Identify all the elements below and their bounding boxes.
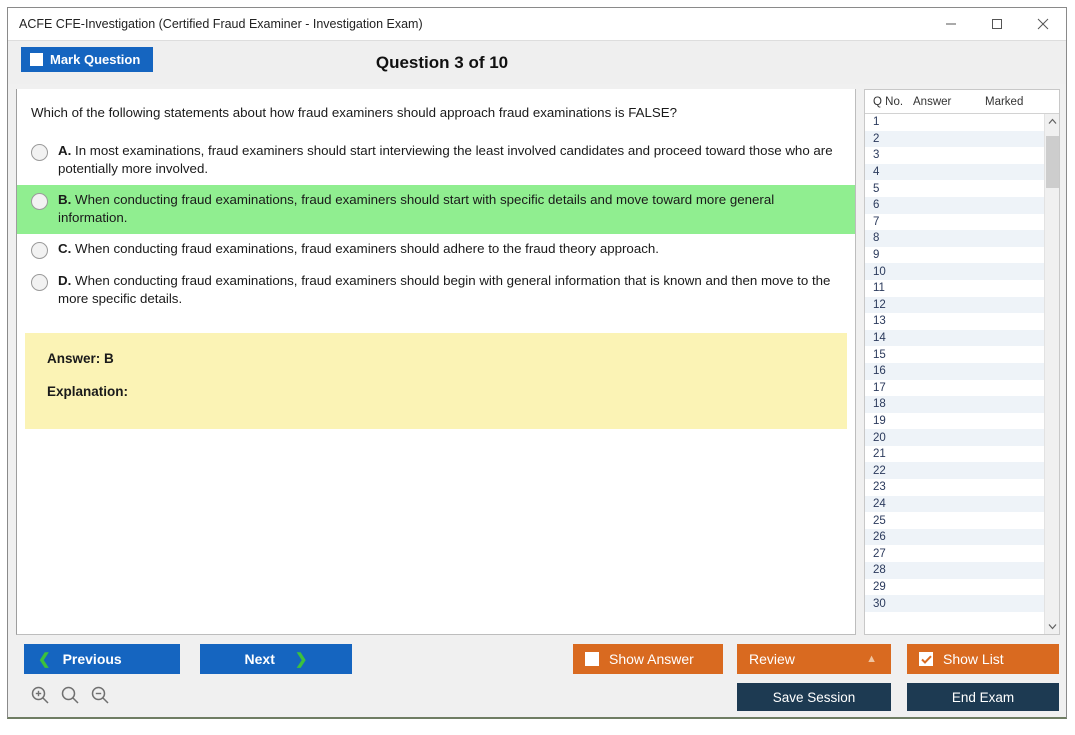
- question-list-row[interactable]: 11: [865, 280, 1044, 297]
- question-list-row[interactable]: 21: [865, 446, 1044, 463]
- question-row-number: 25: [865, 515, 913, 527]
- question-row-number: 7: [865, 216, 913, 228]
- question-row-number: 5: [865, 183, 913, 195]
- radio-icon-c[interactable]: [31, 242, 48, 259]
- question-row-number: 6: [865, 199, 913, 211]
- question-list-pane: Q No. Answer Marked 12345678910111213141…: [864, 89, 1060, 635]
- question-row-number: 8: [865, 232, 913, 244]
- show-answer-label: Show Answer: [609, 651, 694, 667]
- question-list-row[interactable]: 3: [865, 147, 1044, 164]
- question-list-row[interactable]: 26: [865, 529, 1044, 546]
- minimize-icon[interactable]: [928, 8, 974, 40]
- option-d[interactable]: D. When conducting fraud examinations, f…: [17, 266, 855, 315]
- question-list-row[interactable]: 1: [865, 114, 1044, 131]
- footer-toolbar: ❮ Previous Next ❯ Show Answer Review ▲: [8, 641, 1066, 719]
- option-b-text: B. When conducting fraud examinations, f…: [58, 191, 841, 227]
- exam-header: Mark Question Question 3 of 10: [8, 41, 1066, 84]
- question-list-row[interactable]: 16: [865, 363, 1044, 380]
- question-list-row[interactable]: 14: [865, 330, 1044, 347]
- radio-icon-b[interactable]: [31, 193, 48, 210]
- option-d-body: When conducting fraud examinations, frau…: [58, 273, 830, 306]
- question-row-number: 1: [865, 116, 913, 128]
- question-list-row[interactable]: 23: [865, 479, 1044, 496]
- question-row-number: 13: [865, 315, 913, 327]
- question-row-number: 3: [865, 149, 913, 161]
- option-d-text: D. When conducting fraud examinations, f…: [58, 272, 841, 308]
- next-button[interactable]: Next ❯: [200, 644, 352, 674]
- zoom-controls: [30, 685, 110, 710]
- option-a-text: A. In most examinations, fraud examiners…: [58, 142, 841, 178]
- question-row-number: 11: [865, 282, 913, 294]
- option-b[interactable]: B. When conducting fraud examinations, f…: [17, 185, 855, 234]
- mark-question-checkbox-icon[interactable]: [30, 53, 43, 66]
- chevron-right-icon: ❯: [295, 652, 308, 667]
- question-list-row[interactable]: 2: [865, 131, 1044, 148]
- option-c[interactable]: C. When conducting fraud examinations, f…: [17, 234, 855, 266]
- save-session-button[interactable]: Save Session: [737, 683, 891, 711]
- option-a[interactable]: A. In most examinations, fraud examiners…: [17, 136, 855, 185]
- question-list-row[interactable]: 19: [865, 413, 1044, 430]
- window-titlebar: ACFE CFE-Investigation (Certified Fraud …: [8, 8, 1066, 41]
- question-list-row[interactable]: 22: [865, 462, 1044, 479]
- question-list-row[interactable]: 18: [865, 396, 1044, 413]
- question-row-number: 14: [865, 332, 913, 344]
- question-list-row[interactable]: 7: [865, 214, 1044, 231]
- question-list-row[interactable]: 6: [865, 197, 1044, 214]
- show-list-button[interactable]: Show List: [907, 644, 1059, 674]
- answer-panel: Answer: B Explanation:: [25, 333, 847, 429]
- question-list-row[interactable]: 9: [865, 247, 1044, 264]
- question-row-number: 12: [865, 299, 913, 311]
- save-session-label: Save Session: [773, 690, 856, 705]
- exam-body: Which of the following statements about …: [8, 84, 1066, 717]
- question-list-scrollbar[interactable]: [1044, 114, 1059, 634]
- scroll-up-icon[interactable]: [1045, 114, 1059, 129]
- question-list-row[interactable]: 24: [865, 496, 1044, 513]
- option-b-letter: B.: [58, 192, 71, 207]
- question-list-row[interactable]: 28: [865, 562, 1044, 579]
- question-row-number: 30: [865, 598, 913, 610]
- scrollbar-thumb[interactable]: [1046, 136, 1059, 188]
- question-list-row[interactable]: 10: [865, 263, 1044, 280]
- review-dropdown[interactable]: Review ▲: [737, 644, 891, 674]
- question-list-row[interactable]: 13: [865, 313, 1044, 330]
- end-exam-button[interactable]: End Exam: [907, 683, 1059, 711]
- show-answer-button[interactable]: Show Answer: [573, 644, 723, 674]
- show-answer-checkbox-icon[interactable]: [585, 652, 599, 666]
- question-row-number: 21: [865, 448, 913, 460]
- mark-question-button[interactable]: Mark Question: [21, 47, 153, 72]
- previous-button-label: Previous: [63, 651, 122, 667]
- scroll-down-icon[interactable]: [1045, 619, 1059, 634]
- window-title: ACFE CFE-Investigation (Certified Fraud …: [8, 17, 928, 31]
- option-c-text: C. When conducting fraud examinations, f…: [58, 240, 659, 258]
- explanation-label: Explanation:: [47, 384, 825, 399]
- question-list-row[interactable]: 27: [865, 545, 1044, 562]
- question-row-number: 23: [865, 481, 913, 493]
- review-dropdown-label: Review: [749, 651, 795, 667]
- question-row-number: 19: [865, 415, 913, 427]
- question-row-number: 26: [865, 531, 913, 543]
- end-exam-label: End Exam: [952, 690, 1014, 705]
- mark-question-label: Mark Question: [50, 53, 140, 66]
- question-list-row[interactable]: 29: [865, 579, 1044, 596]
- chevron-up-icon[interactable]: ▲: [866, 654, 877, 665]
- zoom-out-icon[interactable]: [90, 685, 110, 710]
- option-c-body: When conducting fraud examinations, frau…: [75, 241, 659, 256]
- question-pane: Which of the following statements about …: [16, 89, 856, 635]
- next-button-label: Next: [245, 651, 275, 667]
- question-list-row[interactable]: 12: [865, 297, 1044, 314]
- question-list-row[interactable]: 15: [865, 346, 1044, 363]
- question-row-number: 2: [865, 133, 913, 145]
- maximize-icon[interactable]: [974, 8, 1020, 40]
- question-list-row[interactable]: 20: [865, 429, 1044, 446]
- question-list-row[interactable]: 8: [865, 230, 1044, 247]
- column-header-marked: Marked: [985, 96, 1059, 108]
- question-list-header: Q No. Answer Marked: [865, 90, 1059, 114]
- column-header-qno: Q No.: [865, 96, 913, 108]
- answer-value: Answer: B: [47, 351, 825, 366]
- question-list-row[interactable]: 4: [865, 164, 1044, 181]
- question-row-number: 29: [865, 581, 913, 593]
- question-row-number: 17: [865, 382, 913, 394]
- question-row-number: 24: [865, 498, 913, 510]
- previous-button[interactable]: ❮ Previous: [24, 644, 180, 674]
- radio-icon-d[interactable]: [31, 274, 48, 291]
- radio-icon-a[interactable]: [31, 144, 48, 161]
- option-a-letter: A.: [58, 143, 71, 158]
- app-root: ACFE CFE-Investigation (Certified Fraud …: [0, 0, 1075, 735]
- question-list-body[interactable]: 1234567891011121314151617181920212223242…: [865, 114, 1044, 634]
- column-header-answer: Answer: [913, 96, 985, 108]
- question-row-number: 9: [865, 249, 913, 261]
- show-list-checkbox-icon[interactable]: [919, 652, 933, 666]
- option-a-body: In most examinations, fraud examiners sh…: [58, 143, 833, 176]
- question-list-row[interactable]: 30: [865, 595, 1044, 612]
- exam-window: ACFE CFE-Investigation (Certified Fraud …: [7, 7, 1067, 719]
- close-icon[interactable]: [1020, 8, 1066, 40]
- question-list-row[interactable]: 25: [865, 512, 1044, 529]
- question-row-number: 16: [865, 365, 913, 377]
- zoom-in-icon[interactable]: [30, 685, 50, 710]
- question-list-row[interactable]: 17: [865, 380, 1044, 397]
- option-d-letter: D.: [58, 273, 71, 288]
- question-row-number: 15: [865, 349, 913, 361]
- question-stem: Which of the following statements about …: [31, 104, 841, 122]
- question-row-number: 20: [865, 432, 913, 444]
- chevron-left-icon: ❮: [38, 652, 51, 667]
- question-list-row[interactable]: 5: [865, 180, 1044, 197]
- question-row-number: 4: [865, 166, 913, 178]
- question-row-number: 22: [865, 465, 913, 477]
- question-row-number: 27: [865, 548, 913, 560]
- option-b-body: When conducting fraud examinations, frau…: [58, 192, 774, 225]
- question-row-number: 28: [865, 564, 913, 576]
- option-c-letter: C.: [58, 241, 71, 256]
- option-list: A. In most examinations, fraud examiners…: [17, 136, 855, 315]
- question-row-number: 18: [865, 398, 913, 410]
- window-controls: [928, 8, 1066, 40]
- question-row-number: 10: [865, 266, 913, 278]
- show-list-label: Show List: [943, 651, 1004, 667]
- zoom-reset-icon[interactable]: [60, 685, 80, 710]
- page-title: Question 3 of 10: [8, 41, 1066, 84]
